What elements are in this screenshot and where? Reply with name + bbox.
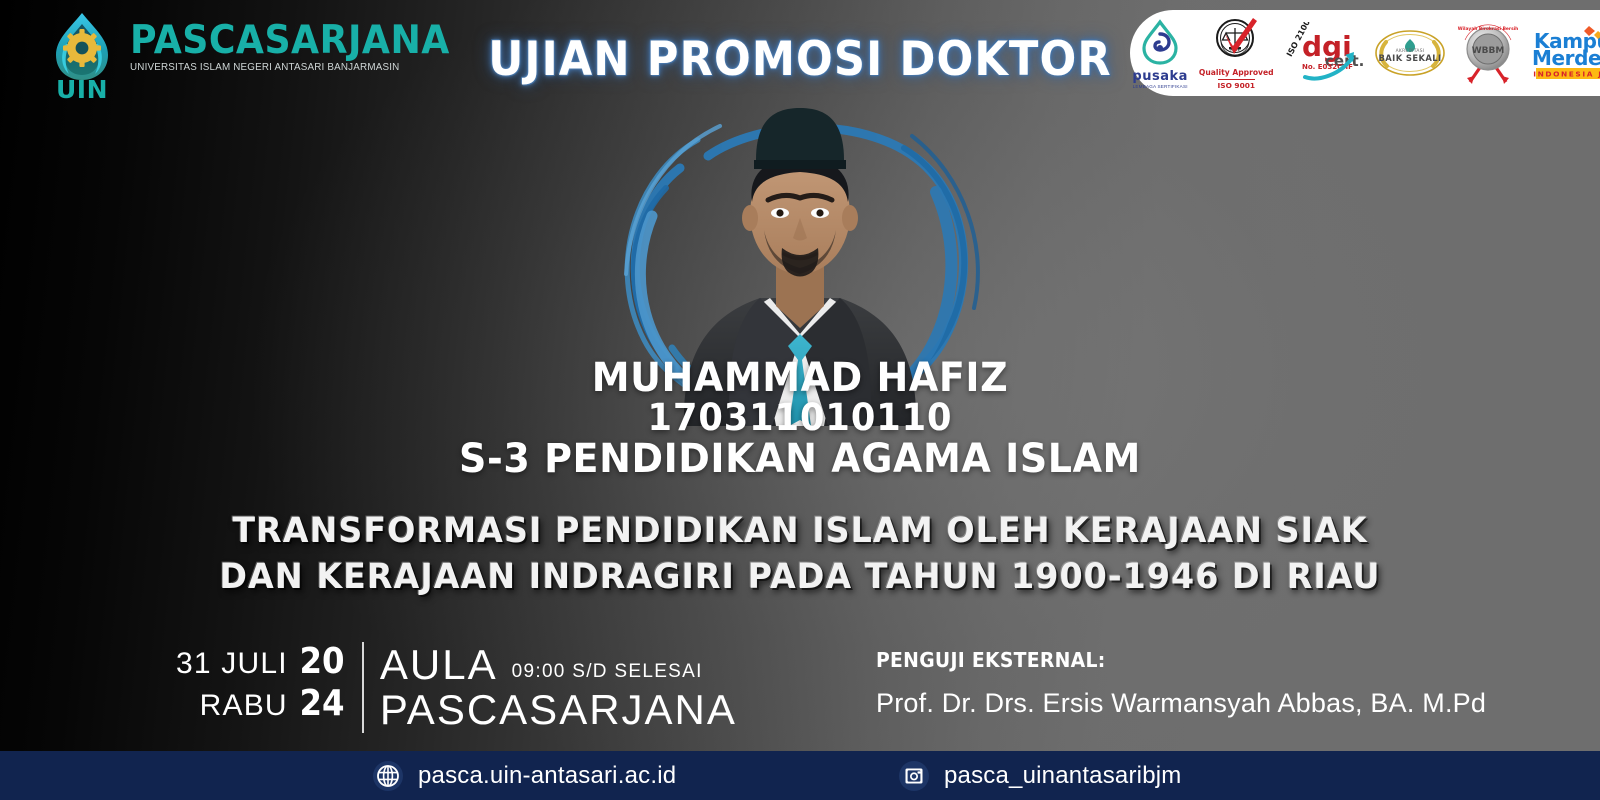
event-year-upper: 20 [299,642,344,682]
dissertation-title: TRANSFORMASI PENDIDIKAN ISLAM OLEH KERAJ… [97,508,1503,600]
website-label: pasca.uin-antasari.ac.id [418,762,676,790]
candidate-program: S-3 PENDIDIKAN AGAMA ISLAM [40,438,1560,481]
page-title: UJIAN PROMOSI DOKTOR [64,32,1536,87]
venue-column: AULA 09:00 S/D SELESAI PASCASARJANA [380,642,737,733]
date-column: 31 JULI 20 RABU 24 [176,642,362,726]
event-year-lower: 24 [299,684,344,724]
website-link[interactable]: pasca.uin-antasari.ac.id [372,760,676,792]
candidate-nim: 170311010110 [40,398,1560,438]
date-row-bottom: RABU 24 [176,684,347,726]
instagram-icon [898,760,930,792]
event-date: 31 JULI [176,644,288,684]
instagram-label: pasca_uinantasaribjm [944,762,1181,790]
kampus-merdeka-badge: Kampus Merdeka INDONESIA JAYA [1530,25,1600,81]
event-day: RABU [200,686,288,726]
schedule-block: 31 JULI 20 RABU 24 AULA 09:00 S/D SELESA… [176,642,737,733]
venue-line-one: AULA 09:00 S/D SELESAI [380,642,737,687]
svg-text:Merdeka: Merdeka [1532,46,1600,70]
footer-bar: pasca.uin-antasari.ac.id pasca_uinantasa… [0,751,1600,800]
examiner-name: Prof. Dr. Drs. Ersis Warmansyah Abbas, B… [876,688,1486,719]
dissertation-title-line1: TRANSFORMASI PENDIDIKAN ISLAM OLEH KERAJ… [97,508,1503,554]
candidate-name: MUHAMMAD HAFIZ [40,358,1560,398]
instagram-link[interactable]: pasca_uinantasaribjm [898,760,1181,792]
candidate-info: MUHAMMAD HAFIZ 170311010110 S-3 PENDIDIK… [0,358,1600,481]
vertical-divider [362,642,364,733]
external-examiner-block: PENGUJI EKSTERNAL: Prof. Dr. Drs. Ersis … [876,648,1486,719]
dissertation-title-line2: DAN KERAJAAN INDRAGIRI PADA TAHUN 1900-1… [97,554,1503,600]
venue-name-part2: PASCASARJANA [380,687,737,732]
globe-icon [372,760,404,792]
examiner-heading: PENGUJI EKSTERNAL: [876,648,1449,672]
venue-name-part1: AULA [380,642,498,687]
kampus-merdeka-logo-icon: Kampus Merdeka INDONESIA JAYA [1530,25,1600,81]
svg-text:INDONESIA JAYA: INDONESIA JAYA [1533,70,1600,79]
event-time: 09:00 S/D SELESAI [512,661,703,683]
promotion-poster: UIN PASCASARJANA UNIVERSITAS ISLAM NEGER… [0,0,1600,800]
date-row-top: 31 JULI 20 [176,642,347,684]
